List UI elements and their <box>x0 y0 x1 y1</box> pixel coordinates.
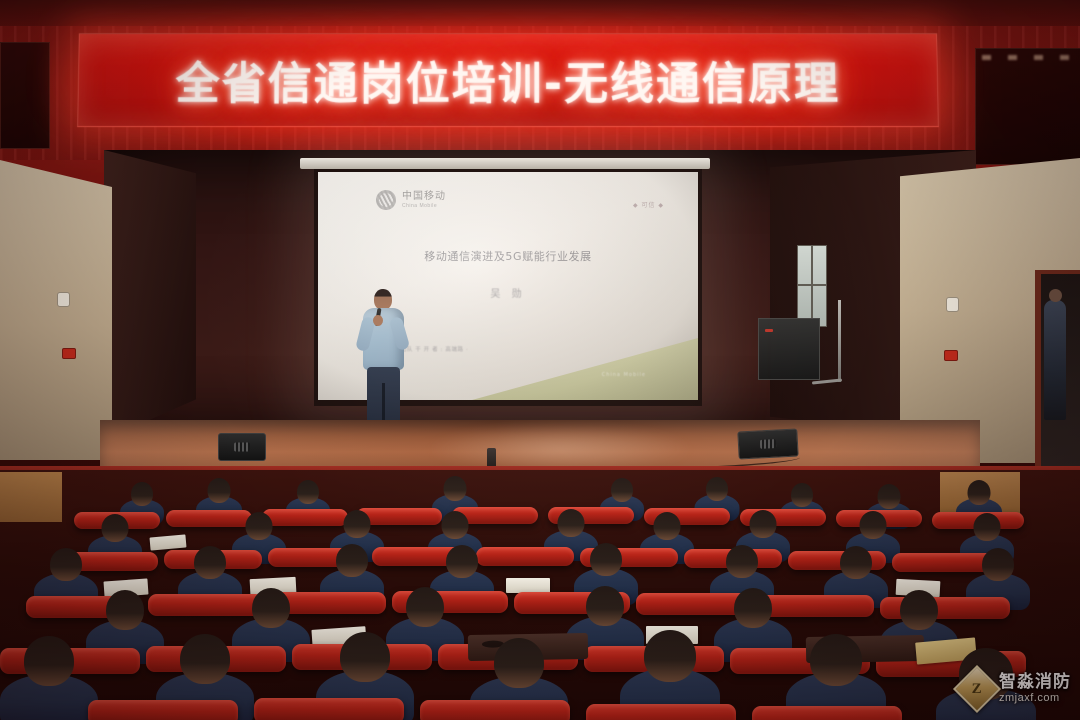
alcove-left-return <box>104 150 196 440</box>
audience-head <box>246 512 273 540</box>
notes-paper <box>506 578 550 593</box>
auditorium-seat[interactable] <box>254 698 404 720</box>
audience-head <box>734 588 772 628</box>
audience-head <box>878 484 901 509</box>
audience-head <box>444 476 467 501</box>
presenter-head <box>374 289 392 310</box>
watermark-url: zmjaxf.com <box>999 693 1071 705</box>
banner-title-text: 全省信通岗位培训-无线通信原理 <box>175 48 840 112</box>
audience-head <box>106 590 144 630</box>
audience-head <box>982 548 1014 581</box>
audience-head <box>50 548 82 581</box>
china-mobile-logo: 中国移动 China Mobile <box>376 190 446 210</box>
audience-head <box>297 480 319 504</box>
audience-head <box>791 483 813 507</box>
ceiling-speaker-icon <box>57 292 70 307</box>
ceiling-speaker-icon <box>946 297 959 312</box>
audience-head <box>102 514 129 542</box>
audience-head <box>644 630 696 682</box>
audience-head <box>586 586 624 626</box>
slide-title: 移动通信演进及5G赋能行业发展 <box>318 248 698 264</box>
event-banner: 全省信通岗位培训-无线通信原理 <box>77 33 939 127</box>
window <box>797 245 827 327</box>
china-mobile-mark-icon <box>376 190 396 210</box>
watermark: Z 智淼消防 zmjaxf.com <box>960 672 1071 706</box>
audience-head <box>654 512 681 540</box>
slide-tagline: ◆ 可信 ◆ <box>633 200 664 209</box>
watermark-name: 智淼消防 <box>999 674 1071 692</box>
audience-head <box>336 544 368 577</box>
audience-head <box>494 638 544 688</box>
side-wall-left <box>0 160 112 460</box>
watermark-logo-icon: Z <box>953 665 1001 713</box>
audience-head <box>442 511 469 539</box>
standing-person <box>1044 300 1066 420</box>
fire-alarm-icon <box>62 348 76 359</box>
audience-head <box>340 632 390 682</box>
wood-wainscot-left <box>0 472 62 522</box>
wall-panel-left <box>0 42 50 149</box>
brand-name-en: China Mobile <box>402 204 446 209</box>
audience-head <box>974 513 1001 541</box>
audience-head <box>406 587 444 627</box>
presenter-hand <box>373 315 383 326</box>
stage-monitor-left <box>218 433 266 461</box>
auditorium-seat[interactable] <box>420 700 570 720</box>
photo-scene: 全省信通岗位培训-无线通信原理 中国移动 China Mobile ◆ 可信 ◆… <box>0 0 1080 720</box>
auditorium-seat[interactable] <box>586 704 736 720</box>
audience-head <box>726 545 758 578</box>
audience-head <box>611 478 633 502</box>
audience-head <box>131 482 153 506</box>
audience-head <box>252 588 290 628</box>
slide-hill-caption: China Mobile <box>602 372 646 378</box>
audience-head <box>194 546 226 579</box>
audience-head <box>840 546 872 579</box>
mic-stand <box>838 300 841 382</box>
audience-head <box>810 634 862 686</box>
audience-head <box>750 510 777 538</box>
auditorium-seat[interactable] <box>752 706 902 720</box>
watermark-logo-glyph: Z <box>972 680 982 697</box>
audience-head <box>344 510 371 538</box>
audience-head <box>24 636 74 686</box>
audience-head <box>860 511 887 539</box>
audience-head <box>900 590 938 630</box>
audience-head <box>706 477 728 501</box>
audience-head <box>208 478 231 503</box>
audience-head <box>968 480 991 505</box>
slide-footnote: 人 建设团队 干 开 者 : 高端路 · <box>380 345 590 353</box>
av-equipment-rack <box>758 318 820 380</box>
brand-name-cn: 中国移动 <box>402 192 446 202</box>
audience-head <box>446 545 478 578</box>
auditorium-seat[interactable] <box>88 700 238 720</box>
screen-roller-casing <box>300 158 710 169</box>
audience-head <box>558 509 585 537</box>
fire-alarm-icon <box>944 350 958 361</box>
audience-member <box>0 636 98 720</box>
audience-head <box>590 543 622 576</box>
audience-head <box>180 634 230 684</box>
wall-panel-right <box>975 48 1080 165</box>
